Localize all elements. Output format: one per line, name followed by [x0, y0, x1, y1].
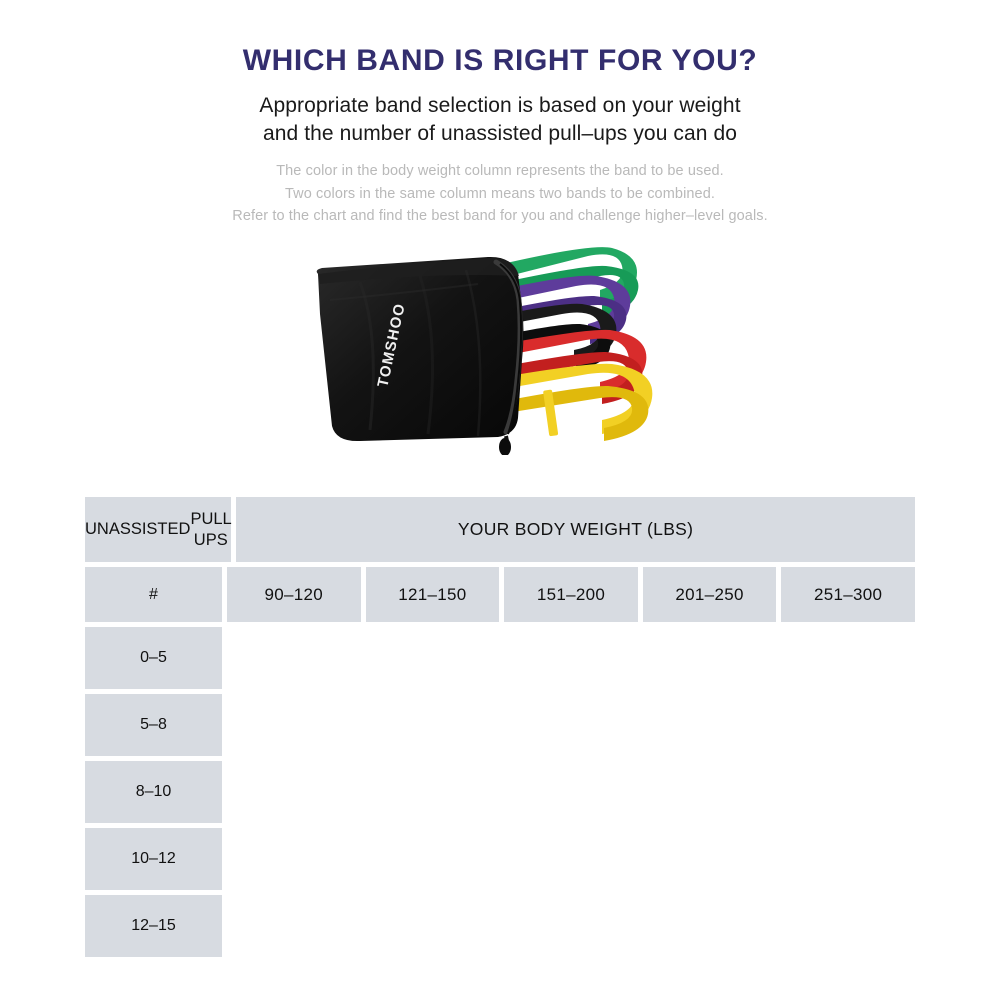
- subtitle-line-2: and the number of unassisted pull–ups yo…: [0, 120, 1000, 148]
- subtitle-block: Appropriate band selection is based on y…: [0, 92, 1000, 148]
- infographic-page: WHICH BAND IS RIGHT FOR YOU? Appropriate…: [0, 0, 1000, 1000]
- table-row: 10–12: [85, 828, 915, 890]
- table-row: 5–8: [85, 694, 915, 756]
- row-label-pullups: 8–10: [85, 761, 222, 823]
- note-line-2: Two colors in the same column means two …: [0, 183, 1000, 206]
- page-title: WHICH BAND IS RIGHT FOR YOU?: [0, 44, 1000, 77]
- header-count-symbol: #: [85, 567, 222, 622]
- band-selection-table: UNASSISTED PULL UPS YOUR BODY WEIGHT (LB…: [85, 497, 915, 957]
- row-label-pullups: 10–12: [85, 828, 222, 890]
- notes-block: The color in the body weight column repr…: [0, 160, 1000, 228]
- table-header-row-primary: UNASSISTED PULL UPS YOUR BODY WEIGHT (LB…: [85, 497, 915, 562]
- header-block: WHICH BAND IS RIGHT FOR YOU? Appropriate…: [0, 0, 1000, 228]
- row-label-pullups: 5–8: [85, 694, 222, 756]
- table-row: 0–5: [85, 627, 915, 689]
- note-line-1: The color in the body weight column repr…: [0, 160, 1000, 183]
- table-body: 0–55–88–1010–1212–15: [85, 627, 915, 957]
- header-unassisted-line-2: PULL UPS: [190, 509, 231, 550]
- carry-bag: TOMSHOO: [317, 257, 524, 455]
- header-column-90-120: 90–120: [227, 567, 361, 622]
- header-unassisted-pullups: UNASSISTED PULL UPS: [85, 497, 231, 562]
- header-column-251-300: 251–300: [781, 567, 915, 622]
- header-body-weight: YOUR BODY WEIGHT (LBS): [236, 497, 915, 562]
- product-photo-illustration: TOMSHOO: [300, 240, 700, 455]
- header-unassisted-line-1: UNASSISTED: [85, 519, 190, 540]
- product-photo: TOMSHOO: [300, 240, 700, 455]
- header-column-121-150: 121–150: [366, 567, 500, 622]
- table-row: 12–15: [85, 895, 915, 957]
- note-line-3: Refer to the chart and find the best ban…: [0, 205, 1000, 228]
- header-column-201-250: 201–250: [643, 567, 777, 622]
- subtitle-line-1: Appropriate band selection is based on y…: [0, 92, 1000, 120]
- table-header-row-columns: # 90–120 121–150 151–200 201–250 251–300: [85, 567, 915, 622]
- row-label-pullups: 0–5: [85, 627, 222, 689]
- header-column-151-200: 151–200: [504, 567, 638, 622]
- row-label-pullups: 12–15: [85, 895, 222, 957]
- table-row: 8–10: [85, 761, 915, 823]
